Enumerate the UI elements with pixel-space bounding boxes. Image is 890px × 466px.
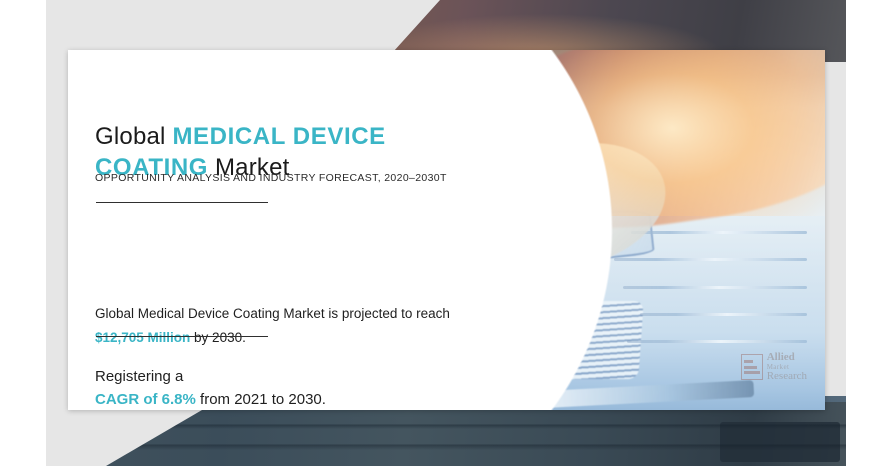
left-margin [0,0,46,466]
watermark-line-3: Research [767,371,807,382]
screenshot-root: Allied Market Research Global MEDICAL DE… [0,0,890,466]
projection-value: $12,705 Million [95,330,190,345]
cagr-lead: Registering a [95,368,183,385]
cagr-after: from 2021 to 2030. [196,391,326,408]
bottom-band-dark-block [720,422,840,462]
infographic-card: Allied Market Research Global MEDICAL DE… [68,50,825,410]
projection-after: by 2030. [190,330,246,345]
right-margin [846,0,890,466]
divider-bottom [96,336,268,337]
instrument-probe-icon [627,340,807,343]
cagr-text: Registering aCAGR of 6.8% from 2021 to 2… [95,365,475,410]
subtitle: OPPORTUNITY ANALYSIS AND INDUSTRY FORECA… [95,172,447,184]
instrument-probe-icon [640,313,807,316]
divider-top [96,202,268,203]
instrument-probe-icon [631,231,807,234]
market-projection-text: Global Medical Device Coating Market is … [95,302,460,350]
title-lead: Global [95,123,166,150]
instrument-probe-icon [623,286,808,289]
cagr-value: CAGR of 6.8% [95,391,196,408]
light-glare [543,50,825,216]
title-accent-1: MEDICAL DEVICE [172,123,385,150]
watermark-text: Allied Market Research [767,352,807,382]
watermark-line-1: Allied [767,352,807,363]
watermark-logo-icon [741,354,763,380]
projection-before: Global Medical Device Coating Market is … [95,306,450,321]
allied-market-research-watermark: Allied Market Research [741,352,807,382]
text-panel: Global MEDICAL DEVICE COATING Market OPP… [68,50,538,410]
instrument-probe-icon [614,258,808,261]
